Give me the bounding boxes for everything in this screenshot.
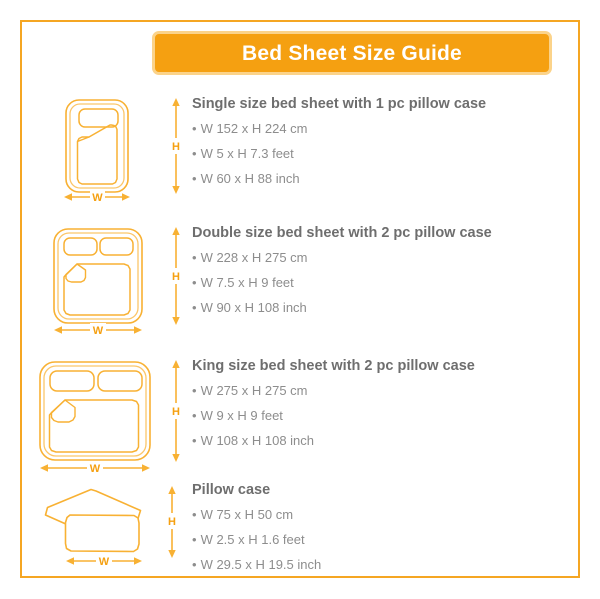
bullet-icon: • bbox=[192, 558, 197, 572]
width-label: W bbox=[90, 463, 101, 475]
title-banner: Bed Sheet Size Guide bbox=[152, 31, 552, 75]
bullet-icon: • bbox=[192, 533, 197, 547]
width-arrow-pillow: W bbox=[66, 554, 142, 568]
width-label: W bbox=[92, 192, 103, 204]
section-double: H W Double size bed sheet with 2 pc pill… bbox=[28, 225, 568, 337]
single-text-column: Single size bed sheet with 1 pc pillow c… bbox=[188, 96, 568, 196]
king-bed-diagram-column: H W bbox=[28, 358, 188, 476]
width-arrow-single: W bbox=[64, 190, 130, 204]
page-title: Bed Sheet Size Guide bbox=[242, 43, 462, 64]
pillow-case-diagram: H W bbox=[28, 482, 188, 568]
pillow-text-column: Pillow case •W 75 x H 50 cm •W 2.5 x H 1… bbox=[188, 482, 568, 582]
bullet-icon: • bbox=[192, 147, 197, 161]
spec-item: •W 275 x H 275 cm bbox=[192, 384, 568, 398]
spec-text: W 90 x H 108 inch bbox=[201, 300, 307, 315]
bullet-icon: • bbox=[192, 301, 197, 315]
bullet-icon: • bbox=[192, 434, 197, 448]
spec-list-pillow: •W 75 x H 50 cm •W 2.5 x H 1.6 feet •W 2… bbox=[192, 508, 568, 571]
section-heading-king: King size bed sheet with 2 pc pillow cas… bbox=[192, 358, 568, 375]
double-bed-diagram-column: H W bbox=[28, 225, 188, 337]
section-heading-pillow: Pillow case bbox=[192, 482, 568, 499]
spec-text: W 7.5 x H 9 feet bbox=[201, 275, 294, 290]
spec-item: •W 152 x H 224 cm bbox=[192, 122, 568, 136]
height-label: H bbox=[172, 406, 180, 418]
height-label: H bbox=[168, 516, 176, 528]
section-pillow: H W Pillow case •W 75 x H 50 cm •W 2.5 x… bbox=[28, 482, 568, 582]
width-arrow-double: W bbox=[54, 323, 142, 337]
height-arrow-double: H bbox=[170, 227, 183, 325]
spec-item: •W 90 x H 108 inch bbox=[192, 301, 568, 315]
double-bed-diagram: H W bbox=[28, 225, 188, 337]
spec-item: •W 108 x H 108 inch bbox=[192, 434, 568, 448]
king-text-column: King size bed sheet with 2 pc pillow cas… bbox=[188, 358, 568, 458]
spec-text: W 275 x H 275 cm bbox=[201, 383, 308, 398]
width-label: W bbox=[93, 325, 104, 337]
spec-text: W 75 x H 50 cm bbox=[201, 507, 293, 522]
spec-text: W 108 x H 108 inch bbox=[201, 433, 314, 448]
spec-text: W 60 x H 88 inch bbox=[201, 171, 300, 186]
spec-list-single: •W 152 x H 224 cm •W 5 x H 7.3 feet •W 6… bbox=[192, 122, 568, 185]
spec-text: W 228 x H 275 cm bbox=[201, 250, 308, 265]
spec-item: •W 228 x H 275 cm bbox=[192, 251, 568, 265]
spec-item: •W 9 x H 9 feet bbox=[192, 409, 568, 423]
width-label: W bbox=[99, 556, 110, 568]
bullet-icon: • bbox=[192, 251, 197, 265]
pillow-case-diagram-column: H W bbox=[28, 482, 188, 568]
single-bed-diagram: H W bbox=[28, 96, 188, 202]
bed-sheet-size-guide: Bed Sheet Size Guide H bbox=[0, 0, 600, 599]
bullet-icon: • bbox=[192, 276, 197, 290]
section-king: H W King size bed sheet with 2 pc pillow… bbox=[28, 358, 568, 476]
height-arrow-king: H bbox=[170, 360, 183, 462]
section-heading-double: Double size bed sheet with 2 pc pillow c… bbox=[192, 225, 568, 242]
king-bed-diagram: H W bbox=[28, 358, 188, 476]
spec-item: •W 60 x H 88 inch bbox=[192, 172, 568, 186]
spec-text: W 152 x H 224 cm bbox=[201, 121, 308, 136]
height-label: H bbox=[172, 271, 180, 283]
spec-item: •W 5 x H 7.3 feet bbox=[192, 147, 568, 161]
bullet-icon: • bbox=[192, 409, 197, 423]
section-single: H W Single size bed sheet with 1 pc pill… bbox=[28, 96, 568, 202]
spec-text: W 9 x H 9 feet bbox=[201, 408, 283, 423]
spec-text: W 5 x H 7.3 feet bbox=[201, 146, 294, 161]
spec-item: •W 75 x H 50 cm bbox=[192, 508, 568, 522]
height-arrow-single: H bbox=[170, 98, 183, 194]
spec-list-king: •W 275 x H 275 cm •W 9 x H 9 feet •W 108… bbox=[192, 384, 568, 447]
double-text-column: Double size bed sheet with 2 pc pillow c… bbox=[188, 225, 568, 325]
height-label: H bbox=[172, 141, 180, 153]
spec-text: W 2.5 x H 1.6 feet bbox=[201, 532, 305, 547]
spec-item: •W 7.5 x H 9 feet bbox=[192, 276, 568, 290]
bullet-icon: • bbox=[192, 508, 197, 522]
width-arrow-king: W bbox=[40, 461, 150, 475]
bullet-icon: • bbox=[192, 122, 197, 136]
spec-text: W 29.5 x H 19.5 inch bbox=[201, 557, 322, 572]
section-heading-single: Single size bed sheet with 1 pc pillow c… bbox=[192, 96, 568, 113]
spec-list-double: •W 228 x H 275 cm •W 7.5 x H 9 feet •W 9… bbox=[192, 251, 568, 314]
height-arrow-pillow: H bbox=[166, 486, 179, 558]
bullet-icon: • bbox=[192, 172, 197, 186]
bullet-icon: • bbox=[192, 384, 197, 398]
spec-item: •W 2.5 x H 1.6 feet bbox=[192, 533, 568, 547]
spec-item: •W 29.5 x H 19.5 inch bbox=[192, 558, 568, 572]
single-bed-diagram-column: H W bbox=[28, 96, 188, 202]
